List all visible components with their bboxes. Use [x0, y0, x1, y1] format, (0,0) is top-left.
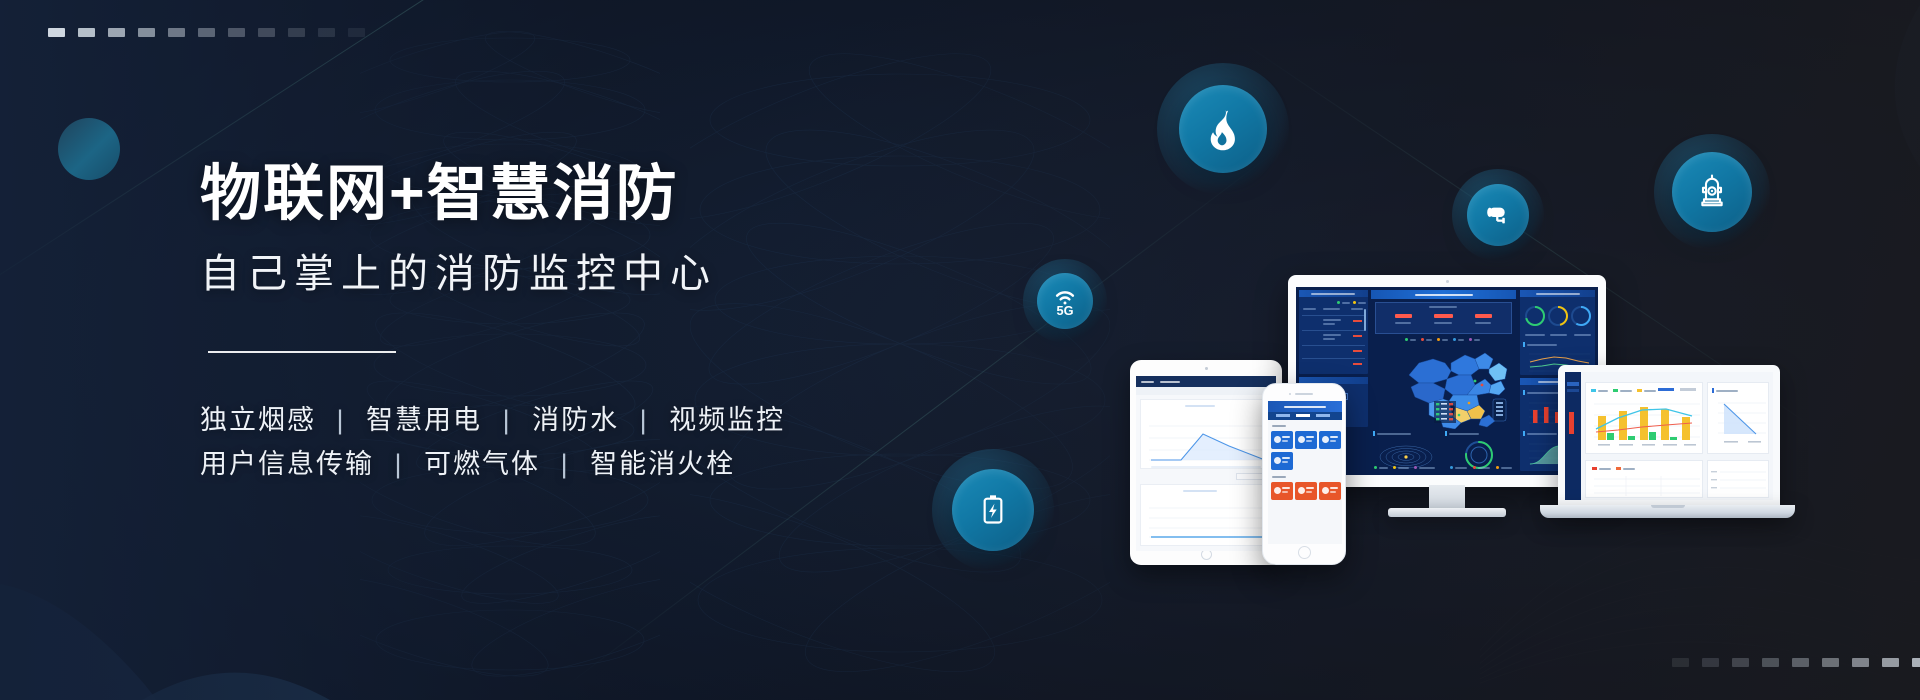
tab-inactive[interactable] — [1680, 388, 1696, 391]
legend-dot — [1453, 338, 1456, 341]
sidebar-alert — [1569, 412, 1574, 434]
gauge-label — [1550, 334, 1567, 336]
axis-ticks — [1151, 466, 1261, 468]
hero-copy: 物联网+智慧消防 自己掌上的消防监控中心 独立烟感 | 智慧用电 | 消防水 |… — [200, 160, 900, 487]
legend-dot — [1393, 466, 1396, 469]
section-label — [1272, 425, 1286, 427]
cctv-camera-icon-badge[interactable] — [1462, 179, 1534, 251]
tile-label — [1282, 487, 1290, 489]
legend-label — [1598, 390, 1608, 392]
accent-tick — [1523, 390, 1525, 395]
tile-icon-circle — [1274, 436, 1281, 443]
legend-label — [1342, 302, 1350, 304]
accent-tick — [1373, 431, 1375, 436]
chart-title — [1449, 433, 1479, 435]
legend-dot — [1337, 301, 1340, 304]
phone-tab[interactable] — [1316, 414, 1330, 417]
tile-label — [1282, 440, 1288, 442]
legend-swatch — [1637, 389, 1642, 392]
legend-swatch — [1613, 389, 1618, 392]
tile-label — [1282, 461, 1288, 463]
map-legend — [1405, 337, 1485, 342]
legend-label — [1455, 467, 1467, 469]
signal-5g-icon-badge[interactable]: 5G — [1032, 268, 1098, 334]
fire-icon — [1201, 107, 1245, 151]
feature-line: 独立烟感 | 智慧用电 | 消防水 | 视频监控 — [200, 399, 900, 443]
table-row — [1302, 330, 1365, 331]
legend-label — [1474, 339, 1480, 341]
china-map — [1371, 345, 1516, 429]
laptop-card-bottom-left — [1585, 460, 1703, 498]
kpi-label — [1395, 322, 1411, 324]
laptop-screen — [1565, 372, 1773, 500]
kpi-value — [1434, 314, 1453, 318]
tile-label — [1282, 491, 1288, 493]
tablet-line-chart-2 — [1141, 500, 1273, 544]
cell — [1323, 319, 1341, 321]
tile-label — [1306, 491, 1312, 493]
table-header — [1323, 308, 1340, 310]
legend-swatch — [1592, 467, 1597, 470]
legend-dot — [1469, 338, 1472, 341]
badge-disc: 5G — [1037, 273, 1093, 329]
feature-item: 独立烟感 — [200, 405, 316, 435]
laptop-grouped-bar-chart — [1586, 396, 1704, 452]
cell — [1323, 334, 1341, 336]
table-row — [1302, 345, 1365, 346]
page-title: 物联网+智慧消防 — [200, 160, 900, 227]
legend-label — [1458, 339, 1464, 341]
legend-dot — [1421, 338, 1424, 341]
device-cluster — [1110, 275, 1810, 575]
table-header — [1303, 308, 1316, 310]
cell — [1323, 338, 1335, 340]
feature-separator: | — [384, 449, 415, 479]
feature-separator: | — [629, 405, 660, 435]
tile-label — [1306, 487, 1314, 489]
panel-title — [1311, 293, 1355, 295]
legend-dot — [1473, 466, 1476, 469]
chart-title — [1377, 433, 1411, 435]
accent-tick — [1712, 388, 1714, 393]
sidebar-item[interactable] — [1567, 382, 1579, 386]
phone-tab-active[interactable] — [1296, 414, 1310, 417]
legend-dot — [1405, 338, 1408, 341]
page-subtitle: 自己掌上的消防监控中心 — [200, 249, 900, 299]
legend-dot — [1496, 466, 1499, 469]
chart-title — [1183, 490, 1217, 492]
feature-list: 独立烟感 | 智慧用电 | 消防水 | 视频监控 用户信息传输 | 可燃气体 |… — [200, 399, 900, 486]
tablet-chart-card — [1140, 484, 1272, 546]
laptop-grid-chart — [1586, 474, 1704, 498]
accent-tick — [1523, 431, 1525, 436]
laptop-card-line — [1707, 382, 1769, 454]
kpi-label — [1434, 322, 1452, 324]
panel-title — [1536, 293, 1580, 295]
legend-label — [1358, 302, 1366, 304]
laptop-trackpad-notch — [1651, 505, 1685, 508]
battery-charge-icon — [973, 490, 1013, 530]
laptop-mini-axis — [1708, 466, 1770, 496]
fire-hydrant-icon — [1692, 172, 1732, 212]
cell-alert — [1353, 350, 1362, 352]
table-header — [1351, 308, 1363, 310]
laptop-device — [1540, 365, 1795, 535]
badge-disc — [1467, 184, 1529, 246]
sidebar-item[interactable] — [1567, 389, 1579, 392]
tablet-topbar — [1136, 376, 1276, 387]
tablet-nav-label — [1160, 381, 1180, 383]
laptop-card-bottom-right — [1707, 460, 1769, 498]
feature-separator: | — [550, 449, 581, 479]
legend-label — [1620, 390, 1632, 392]
legend-label — [1478, 467, 1490, 469]
legend-label — [1419, 467, 1435, 469]
dashboard-title — [1415, 294, 1473, 296]
tile-icon-circle — [1298, 487, 1305, 494]
feature-item: 视频监控 — [669, 405, 785, 435]
cctv-camera-icon — [1482, 199, 1514, 231]
legend-label — [1410, 339, 1416, 341]
legend-label — [1379, 467, 1388, 469]
chart-legend — [1591, 388, 1669, 393]
hero-banner: 物联网+智慧消防 自己掌上的消防监控中心 独立烟感 | 智慧用电 | 消防水 |… — [0, 0, 1920, 700]
signal-5g-icon: 5G — [1048, 284, 1082, 318]
monitor-base — [1388, 508, 1506, 517]
feature-line: 用户信息传输 | 可燃气体 | 智能消火栓 — [200, 443, 900, 487]
legend-label — [1426, 339, 1432, 341]
tablet-screen — [1136, 376, 1276, 551]
feature-item: 可燃气体 — [424, 449, 540, 479]
bottom-legend-strip — [1372, 465, 1514, 471]
legend-dot — [1353, 301, 1356, 304]
kpi-strip-title — [1429, 306, 1457, 308]
phone-app-title — [1284, 406, 1326, 408]
phone-speaker — [1295, 393, 1313, 395]
cell-alert — [1353, 335, 1362, 337]
tile-label — [1306, 436, 1314, 438]
cell-alert — [1353, 363, 1362, 365]
legend-dot — [1437, 338, 1440, 341]
cell — [1323, 323, 1335, 325]
tile-label — [1330, 491, 1336, 493]
table-row — [1302, 315, 1365, 316]
divider-rule — [208, 351, 396, 353]
tile-icon-circle — [1298, 436, 1305, 443]
accent-tick — [1445, 431, 1447, 436]
tablet-subbar — [1136, 387, 1276, 395]
kpi-value — [1395, 314, 1412, 318]
tablet-line-chart — [1141, 416, 1273, 468]
tablet-chart-card — [1140, 399, 1272, 469]
kpi-gauges — [1520, 302, 1595, 332]
phone-home-button[interactable] — [1298, 546, 1311, 559]
badge-disc — [1179, 85, 1267, 173]
feature-separator: | — [326, 405, 357, 435]
feature-item: 用户信息传输 — [200, 449, 374, 479]
gauge-label — [1525, 334, 1545, 336]
feature-item: 智能消火栓 — [590, 449, 735, 479]
feature-item: 智慧用电 — [366, 405, 482, 435]
monitor-camera-dot — [1446, 280, 1449, 283]
cell-alert — [1353, 320, 1362, 322]
chart-title — [1185, 405, 1215, 407]
legend-swatch — [1616, 467, 1621, 470]
laptop-card-bar — [1585, 382, 1703, 454]
fire-hydrant-icon-badge[interactable] — [1666, 146, 1758, 238]
tile-icon-circle — [1322, 487, 1329, 494]
dashboard-panel-alarm-list — [1299, 290, 1368, 374]
tablet-camera — [1205, 367, 1208, 370]
tile-icon-circle — [1274, 457, 1281, 464]
phone-screen — [1268, 401, 1342, 544]
badge-disc — [1672, 152, 1752, 232]
legend-dot — [1414, 466, 1417, 469]
feature-separator: | — [492, 405, 523, 435]
feature-item: 消防水 — [532, 405, 619, 435]
dashboard-panel-status — [1520, 290, 1595, 375]
section-label — [1272, 476, 1286, 478]
legend-label — [1644, 390, 1656, 392]
tablet-device — [1130, 360, 1282, 565]
phone-tab[interactable] — [1276, 414, 1290, 417]
legend-dot — [1450, 466, 1453, 469]
tile-label — [1330, 487, 1338, 489]
accent-tick — [1523, 342, 1525, 347]
svg-text:5G: 5G — [1056, 303, 1073, 318]
scrollbar[interactable] — [1364, 309, 1366, 331]
fire-icon-badge[interactable] — [1171, 77, 1275, 181]
gauge-label — [1574, 334, 1591, 336]
legend-label — [1398, 467, 1409, 469]
tile-label — [1330, 440, 1336, 442]
dashboard-center — [1371, 290, 1516, 472]
tablet-nav-label — [1141, 381, 1154, 383]
badge-disc — [952, 469, 1034, 551]
tile-icon-circle — [1322, 436, 1329, 443]
chart-title — [1527, 344, 1557, 346]
tile-label — [1282, 436, 1290, 438]
legend-label — [1501, 467, 1512, 469]
chart-title — [1716, 390, 1738, 392]
legend-label — [1623, 468, 1635, 470]
legend-dot — [1374, 466, 1377, 469]
kpi-value — [1475, 314, 1492, 318]
laptop-line-chart — [1708, 397, 1770, 451]
tile-label — [1282, 457, 1290, 459]
battery-charge-icon-badge[interactable] — [945, 462, 1041, 558]
mobile-phone — [1262, 383, 1346, 565]
tile-label — [1306, 440, 1312, 442]
legend-swatch — [1591, 389, 1596, 392]
kpi-label — [1475, 322, 1491, 324]
legend-label — [1442, 339, 1448, 341]
legend-label — [1599, 468, 1611, 470]
table-row — [1302, 358, 1365, 359]
phone-camera — [1289, 393, 1291, 395]
tile-icon-circle — [1274, 487, 1281, 494]
tile-label — [1330, 436, 1338, 438]
